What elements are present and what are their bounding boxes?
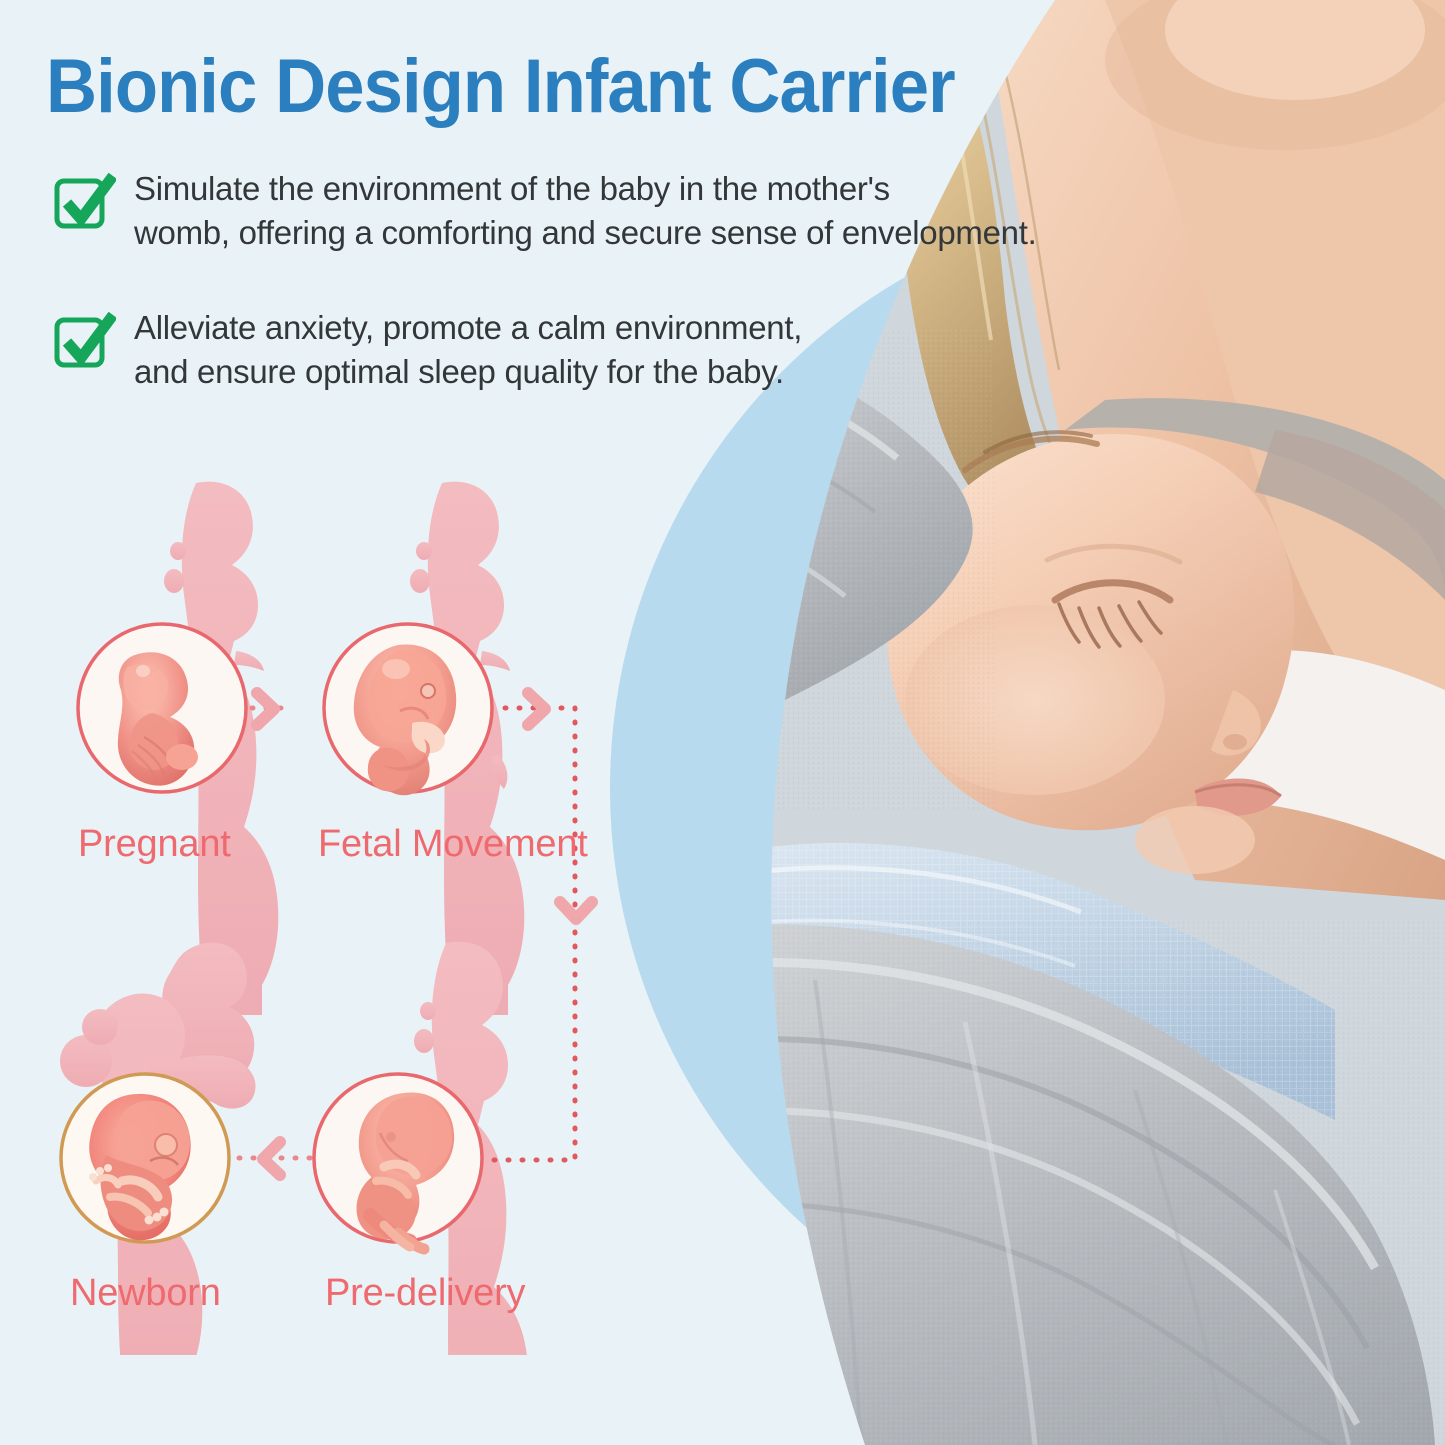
product-marketing-image: Bionic Design Infant Carrier Simulate th… <box>0 0 1445 1445</box>
stage-circle-fetal-movement <box>324 624 492 795</box>
list-item: Alleviate anxiety, promote a calm enviro… <box>52 307 1212 394</box>
list-item: Simulate the environment of the baby in … <box>52 168 1212 255</box>
pregnancy-cycle-diagram <box>0 455 640 1355</box>
list-item-label: Simulate the environment of the baby in … <box>134 168 1036 255</box>
stage-label-newborn: Newborn <box>70 1272 221 1315</box>
stage-circle-newborn <box>61 1074 229 1242</box>
arrowhead-right-1 <box>257 693 274 725</box>
stage-label-pre-delivery: Pre-delivery <box>325 1272 525 1315</box>
list-item-label: Alleviate anxiety, promote a calm enviro… <box>134 307 802 394</box>
stage-label-fetal-movement: Fetal Movement <box>318 823 588 866</box>
stage-label-pregnant: Pregnant <box>78 823 231 866</box>
arrowhead-right-2 <box>528 693 545 725</box>
page-title: Bionic Design Infant Carrier <box>46 48 955 126</box>
arrowhead-left <box>263 1142 280 1175</box>
stage-circle-pregnant <box>78 624 246 792</box>
green-check-box-icon <box>52 170 116 234</box>
green-check-box-icon <box>52 309 116 373</box>
feature-bullet-list: Simulate the environment of the baby in … <box>52 168 1212 446</box>
